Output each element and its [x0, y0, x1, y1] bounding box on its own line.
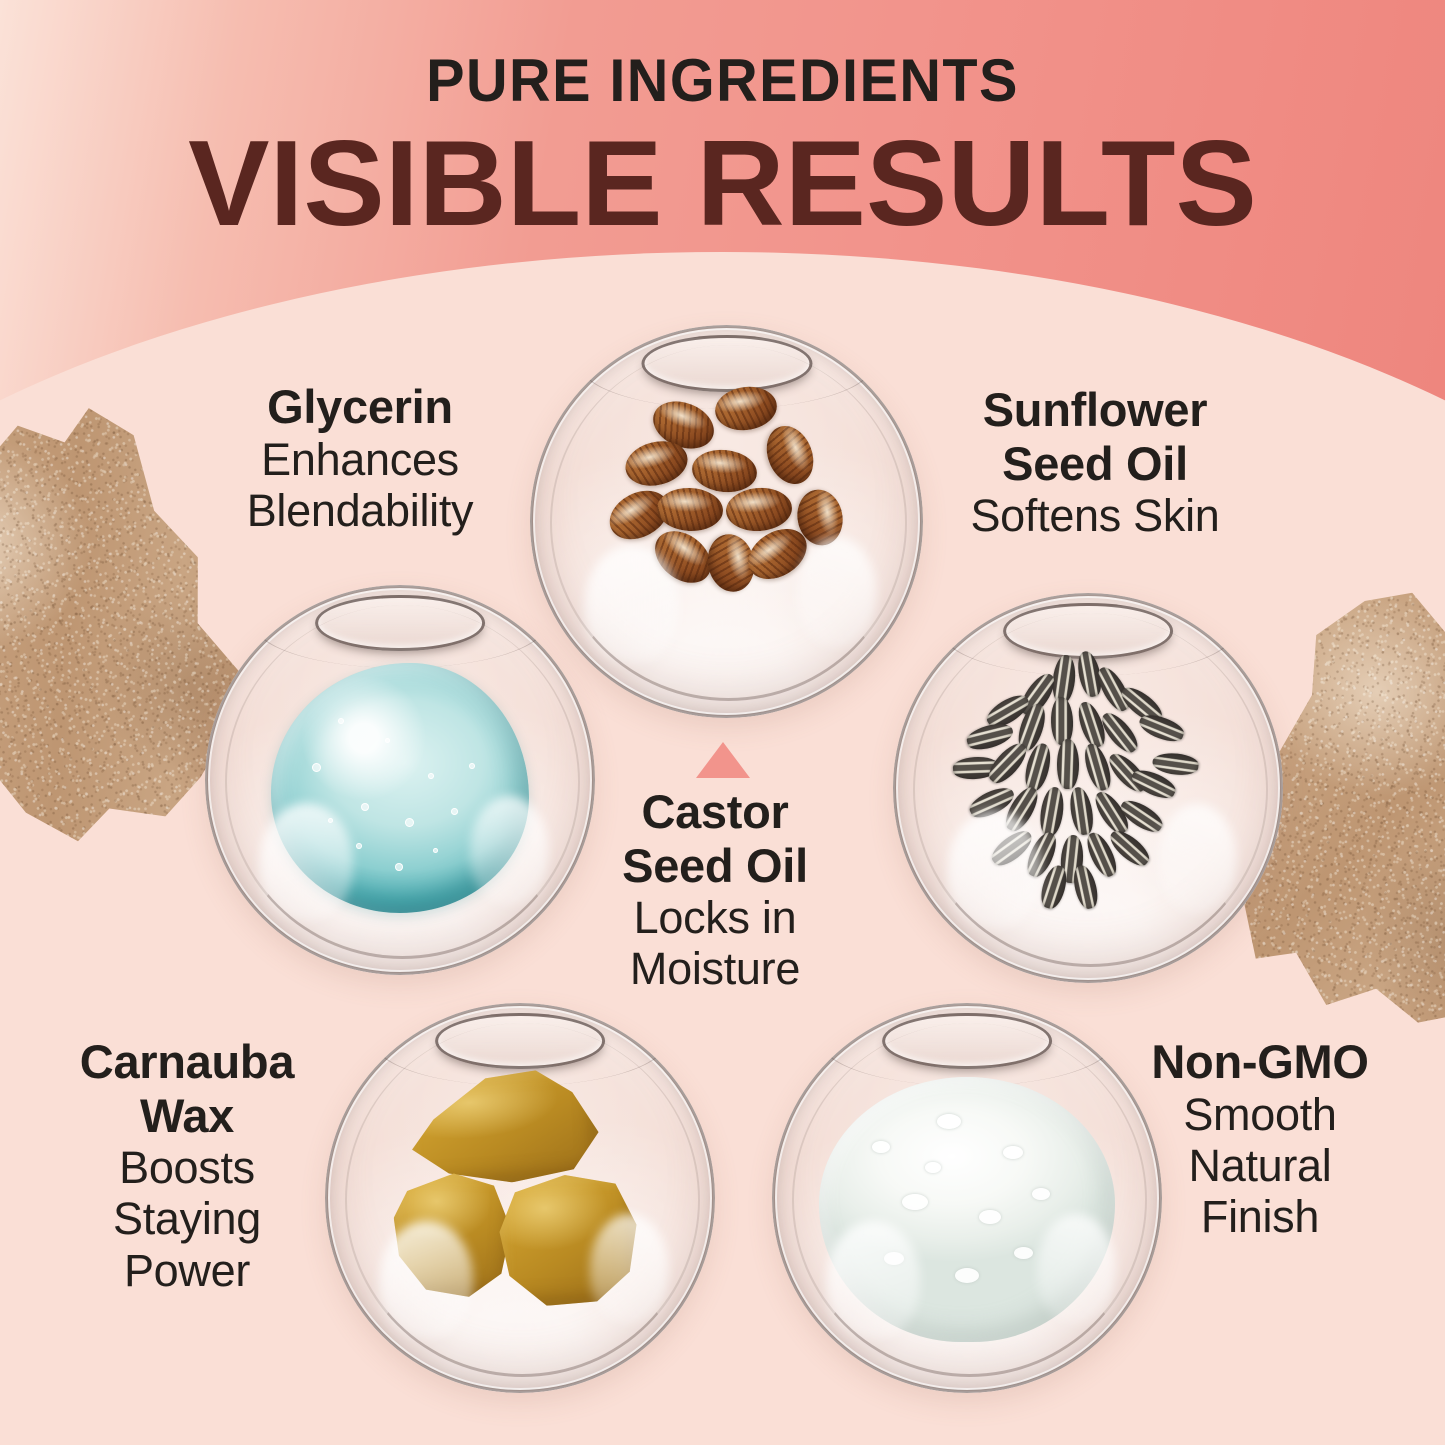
label-castor-title-1: Castor	[570, 785, 860, 839]
sunflower-seeds	[893, 593, 1283, 983]
label-glycerin-benefit-1: Enhances	[175, 434, 545, 485]
glass-sphere-sunflower-seed	[893, 593, 1283, 983]
label-carnauba-benefit-3: Power	[32, 1245, 342, 1296]
label-non-gmo-title: Non-GMO	[1105, 1035, 1415, 1089]
label-castor-seed-oil: Castor Seed Oil Locks in Moisture	[570, 785, 860, 995]
headline-kicker: PURE INGREDIENTS	[29, 46, 1416, 115]
label-sunflower-title-1: Sunflower	[905, 383, 1285, 437]
label-carnauba-title-2: Wax	[32, 1089, 342, 1143]
label-carnauba-title-1: Carnauba	[32, 1035, 342, 1089]
glass-sphere-glycerin	[205, 585, 595, 975]
label-carnauba-benefit-1: Boosts	[32, 1142, 342, 1193]
label-non-gmo-benefit-2: Natural	[1105, 1140, 1415, 1191]
infographic-canvas: PURE INGREDIENTS VISIBLE RESULTS	[0, 0, 1445, 1445]
label-carnauba-benefit-2: Staying	[32, 1193, 342, 1244]
label-castor-benefit-1: Locks in	[570, 892, 860, 943]
gel-blob	[271, 663, 528, 913]
label-sunflower-benefit-1: Softens Skin	[905, 490, 1285, 541]
wax-chunks	[325, 1003, 715, 1393]
glass-sphere-non-gmo	[772, 1003, 1162, 1393]
glycerin-gel	[205, 585, 595, 975]
label-sunflower-title-2: Seed Oil	[905, 437, 1285, 491]
pointer-triangle-icon	[696, 742, 750, 778]
label-glycerin-title: Glycerin	[175, 380, 545, 434]
label-castor-title-2: Seed Oil	[570, 839, 860, 893]
headline-block: PURE INGREDIENTS VISIBLE RESULTS	[0, 0, 1445, 245]
label-non-gmo-benefit-3: Finish	[1105, 1191, 1415, 1242]
label-non-gmo: Non-GMO Smooth Natural Finish	[1105, 1035, 1415, 1242]
label-sunflower-seed-oil: Sunflower Seed Oil Softens Skin	[905, 383, 1285, 541]
label-glycerin: Glycerin Enhances Blendability	[175, 380, 545, 536]
label-castor-benefit-2: Moisture	[570, 943, 860, 994]
label-carnauba-wax: Carnauba Wax Boosts Staying Power	[32, 1035, 342, 1296]
label-non-gmo-benefit-1: Smooth	[1105, 1089, 1415, 1140]
powder	[772, 1003, 1162, 1393]
headline-main: VISIBLE RESULTS	[0, 121, 1445, 245]
label-glycerin-benefit-2: Blendability	[175, 485, 545, 536]
powder-mound	[819, 1077, 1115, 1342]
glass-sphere-carnauba-wax	[325, 1003, 715, 1393]
